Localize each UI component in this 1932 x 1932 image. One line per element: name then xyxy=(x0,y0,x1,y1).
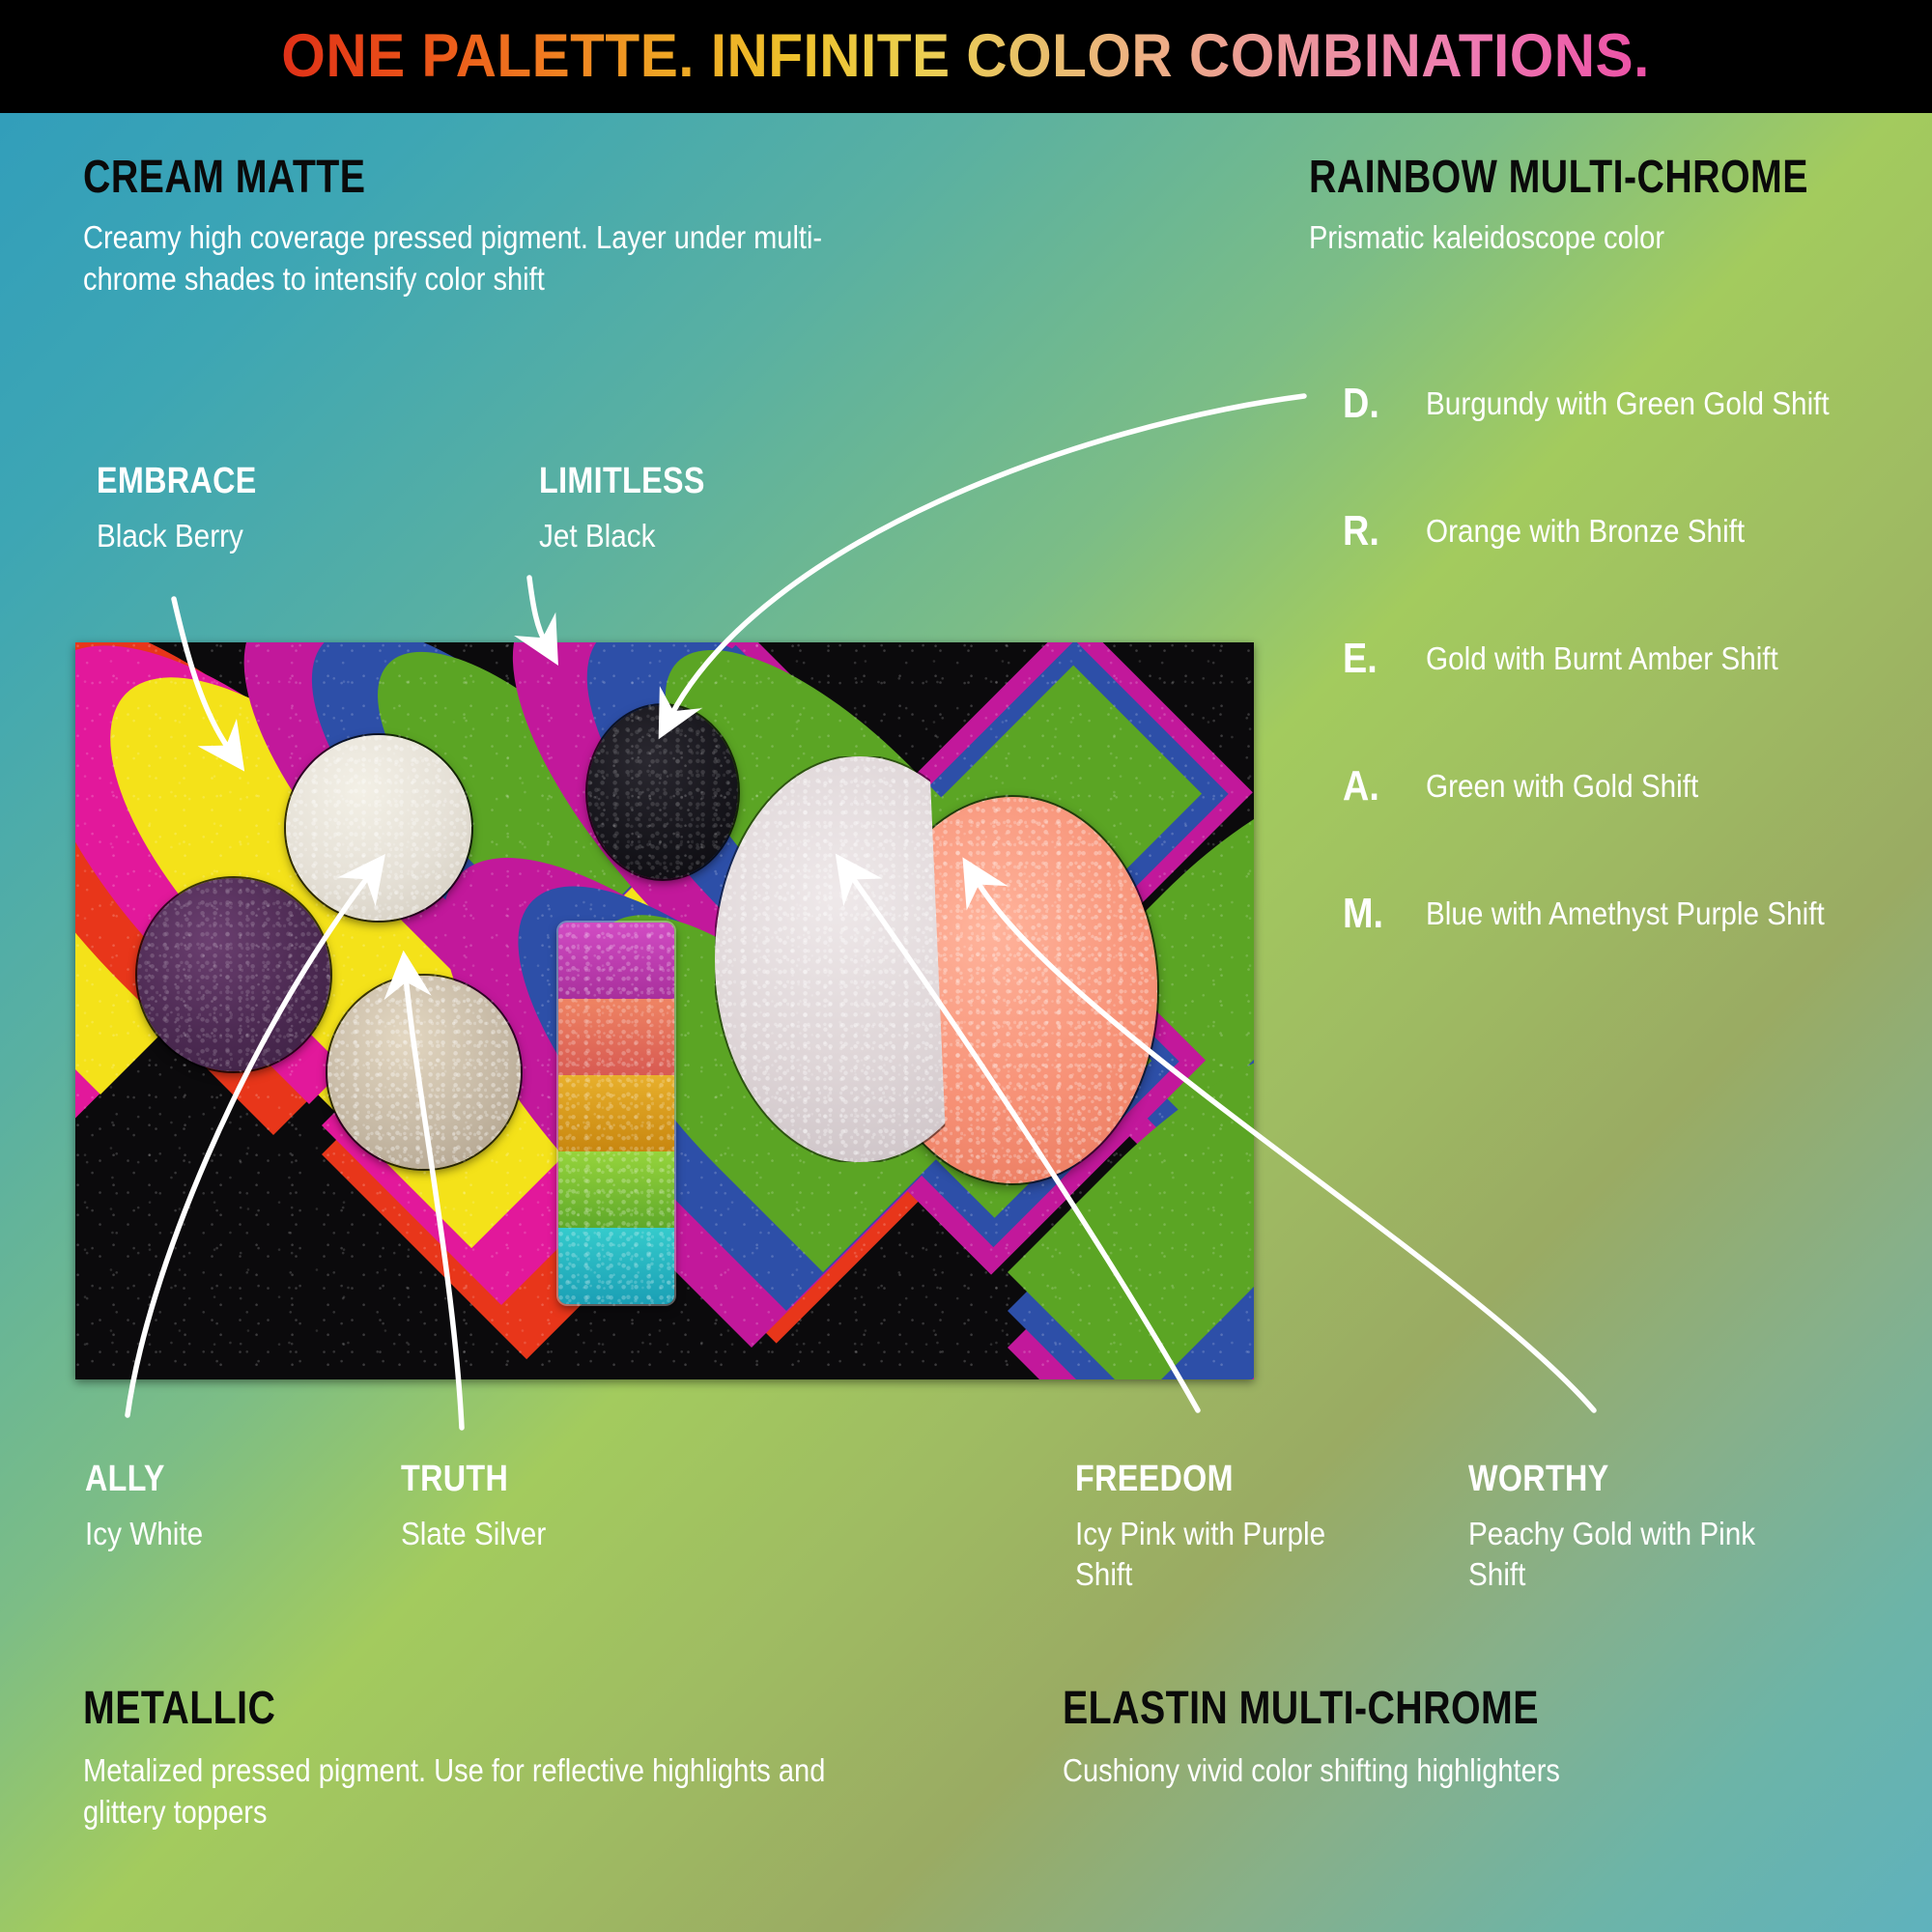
pan-texture xyxy=(558,923,674,1304)
pan-ally xyxy=(286,735,471,921)
shade-label-ally: ALLY Icy White xyxy=(85,1459,216,1554)
truth-description: Slate Silver xyxy=(401,1514,546,1554)
pan-texture xyxy=(327,976,521,1169)
cream-matte-title: CREAM MATTE xyxy=(83,155,796,202)
shade-label-worthy: WORTHY Peachy Gold with Pink Shift xyxy=(1468,1459,1855,1595)
dream-letter-d: D. xyxy=(1343,380,1414,428)
shade-label-truth: TRUTH Slate Silver xyxy=(401,1459,562,1554)
ally-description: Icy White xyxy=(85,1514,203,1554)
shade-label-limitless: LIMITLESS Jet Black xyxy=(539,461,734,556)
embrace-name: EMBRACE xyxy=(97,461,257,502)
header-banner: ONE PALETTE. INFINITE COLOR COMBINATIONS… xyxy=(0,0,1932,113)
freedom-name: FREEDOM xyxy=(1075,1459,1314,1500)
leader-limitless xyxy=(529,578,546,643)
dream-letter-e: E. xyxy=(1343,635,1414,683)
dream-text-a: Green with Gold Shift xyxy=(1426,766,1698,807)
shade-label-embrace: EMBRACE Black Berry xyxy=(97,461,285,556)
cream-matte-description: Creamy high coverage pressed pigment. La… xyxy=(83,217,848,300)
rainbow-multi-chrome-title: RAINBOW MULTI-CHROME xyxy=(1309,155,1816,202)
dream-letter-r: R. xyxy=(1343,507,1414,555)
dream-text-e: Gold with Burnt Amber Shift xyxy=(1426,639,1778,679)
dream-text-m: Blue with Amethyst Purple Shift xyxy=(1426,894,1825,934)
metallic-description: Metalized pressed pigment. Use for refle… xyxy=(83,1750,848,1833)
section-metallic: METALLIC Metalized pressed pigment. Use … xyxy=(83,1686,952,1833)
elastin-description: Cushiony vivid color shifting highlighte… xyxy=(1063,1750,1794,1792)
embrace-description: Black Berry xyxy=(97,516,266,556)
section-cream-matte: CREAM MATTE Creamy high coverage pressed… xyxy=(83,155,952,300)
page-title: ONE PALETTE. INFINITE COLOR COMBINATIONS… xyxy=(282,26,1651,87)
pan-rainbow-strip xyxy=(558,923,674,1304)
dream-text-d: Burgundy with Green Gold Shift xyxy=(1426,384,1830,424)
worthy-description: Peachy Gold with Pink Shift xyxy=(1468,1514,1816,1595)
list-item: A. Green with Gold Shift xyxy=(1343,740,1932,833)
limitless-description: Jet Black xyxy=(539,516,715,556)
dream-letter-m: M. xyxy=(1343,890,1414,938)
section-rainbow-multi-chrome: RAINBOW MULTI-CHROME Prismatic kaleidosc… xyxy=(1309,155,1927,259)
pan-truth xyxy=(327,976,521,1169)
dream-text-r: Orange with Bronze Shift xyxy=(1426,511,1745,552)
ally-name: ALLY xyxy=(85,1459,196,1500)
freedom-description: Icy Pink with Purple Shift xyxy=(1075,1514,1327,1595)
worthy-name: WORTHY xyxy=(1468,1459,1797,1500)
dream-letter-a: A. xyxy=(1343,762,1414,810)
palette-product-photo xyxy=(75,642,1254,1379)
rainbow-multi-chrome-description: Prismatic kaleidoscope color xyxy=(1309,217,1853,259)
limitless-name: LIMITLESS xyxy=(539,461,705,502)
list-item: R. Orange with Bronze Shift xyxy=(1343,485,1932,578)
dream-acronym-list: D. Burgundy with Green Gold Shift R. Ora… xyxy=(1343,357,1932,995)
list-item: D. Burgundy with Green Gold Shift xyxy=(1343,357,1932,450)
metallic-title: METALLIC xyxy=(83,1686,796,1733)
list-item: E. Gold with Burnt Amber Shift xyxy=(1343,612,1932,705)
elastin-title: ELASTIN MULTI-CHROME xyxy=(1063,1686,1744,1733)
section-elastin-multi-chrome: ELASTIN MULTI-CHROME Cushiony vivid colo… xyxy=(1063,1686,1893,1792)
shade-label-freedom: FREEDOM Icy Pink with Purple Shift xyxy=(1075,1459,1355,1595)
pan-texture xyxy=(286,735,471,921)
infographic-page: ONE PALETTE. INFINITE COLOR COMBINATIONS… xyxy=(0,0,1932,1932)
list-item: M. Blue with Amethyst Purple Shift xyxy=(1343,867,1932,960)
truth-name: TRUTH xyxy=(401,1459,538,1500)
